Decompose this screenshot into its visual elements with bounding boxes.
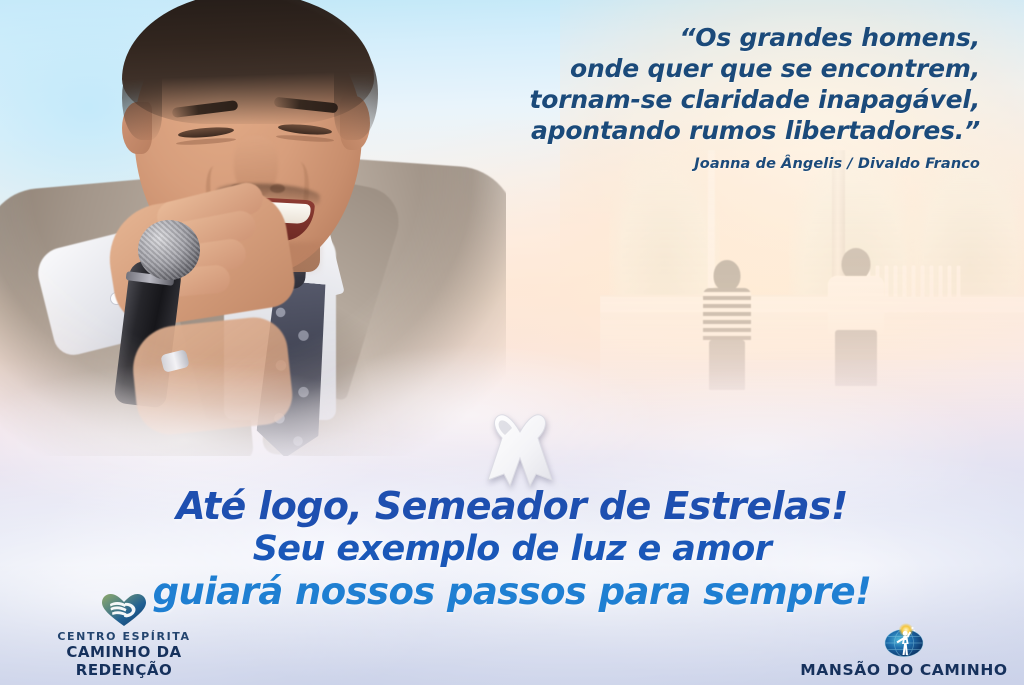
logo-left-line-2: CAMINHO DA REDENÇÃO bbox=[18, 643, 230, 679]
heart-hands-icon bbox=[101, 593, 147, 627]
quote-line-1: “Os grandes homens, bbox=[360, 22, 980, 53]
mourning-ribbon-icon bbox=[482, 408, 558, 492]
logo-centro-espirita: CENTRO ESPÍRITA CAMINHO DA REDENÇÃO bbox=[18, 593, 230, 679]
memorial-poster: “Os grandes homens, onde quer que se enc… bbox=[0, 0, 1024, 685]
globe-figure-torch-icon bbox=[881, 622, 927, 658]
logo-left-line-1: CENTRO ESPÍRITA bbox=[18, 630, 230, 643]
logo-mansao-do-caminho: MANSÃO DO CAMINHO bbox=[798, 622, 1010, 679]
quote-line-2: onde quer que se encontrem, bbox=[360, 53, 980, 84]
logo-right-label: MANSÃO DO CAMINHO bbox=[798, 661, 1010, 679]
quote-line-4: apontando rumos libertadores.” bbox=[360, 115, 980, 146]
quote-author: Joanna de Ângelis / Divaldo Franco bbox=[360, 156, 980, 172]
quote-block: “Os grandes homens, onde quer que se enc… bbox=[360, 22, 980, 172]
headline-line-2: Seu exemplo de luz e amor bbox=[0, 528, 1024, 570]
quote-line-3: tornam-se claridade inapagável, bbox=[360, 84, 980, 115]
headline-line-1: Até logo, Semeador de Estrelas! bbox=[0, 484, 1024, 528]
